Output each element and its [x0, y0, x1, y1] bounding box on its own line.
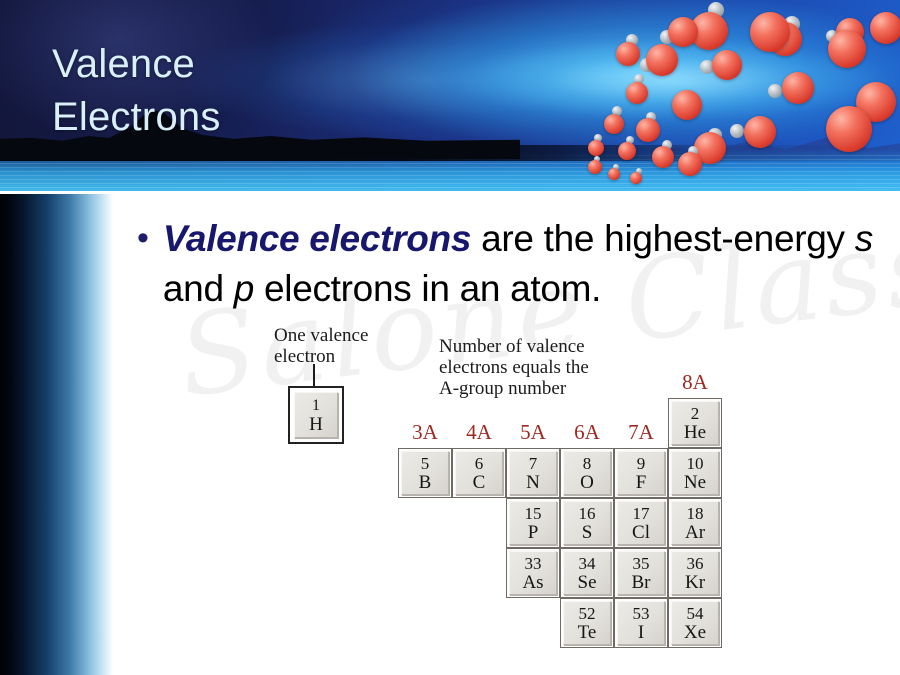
oxygen-atom-icon: [616, 42, 640, 66]
element-tile: 54Xe: [671, 601, 719, 645]
element-tile: 52Te: [563, 601, 611, 645]
element-atomic-number: 33: [525, 554, 542, 573]
oxygen-atom-icon: [826, 106, 872, 152]
element-tile: 35Br: [617, 551, 665, 595]
bullet-text-part-2: and: [163, 268, 234, 309]
element-atomic-number: 17: [633, 504, 650, 523]
element-atomic-number: 5: [421, 454, 430, 473]
element-cell-o[interactable]: 8O: [560, 448, 614, 498]
element-cell-ne[interactable]: 10Ne: [668, 448, 722, 498]
element-symbol: O: [580, 473, 594, 493]
element-symbol: He: [684, 423, 706, 443]
element-atomic-number: 9: [637, 454, 646, 473]
element-symbol: F: [636, 473, 647, 493]
group-label-4a: 4A: [452, 422, 506, 443]
element-tile: 5B: [401, 451, 449, 495]
element-cell-te[interactable]: 52Te: [560, 598, 614, 648]
element-symbol: Cl: [632, 523, 650, 543]
element-cell-se[interactable]: 34Se: [560, 548, 614, 598]
page-title: Valence Electrons: [52, 38, 472, 144]
element-atomic-number: 54: [687, 604, 704, 623]
term-valence-electrons: Valence electrons: [163, 218, 471, 259]
element-atomic-number: 1: [312, 396, 320, 415]
element-tile: 7N: [509, 451, 557, 495]
element-atomic-number: 52: [579, 604, 596, 623]
slide: Valence Electrons Salone Classes • Valen…: [0, 0, 900, 675]
element-symbol: C: [473, 473, 486, 493]
left-accent-strip: [0, 194, 113, 675]
element-symbol: I: [638, 623, 644, 643]
element-cell-he[interactable]: 2He: [668, 398, 722, 448]
list-item: • Valence electrons are the highest-ener…: [137, 214, 877, 314]
element-tile: 18Ar: [671, 501, 719, 545]
element-atomic-number: 10: [687, 454, 704, 473]
oxygen-atom-icon: [630, 172, 642, 184]
element-symbol: Kr: [685, 573, 705, 593]
oxygen-atom-icon: [672, 90, 702, 120]
element-symbol: As: [522, 573, 543, 593]
element-atomic-number: 8: [583, 454, 592, 473]
element-tile: 36Kr: [671, 551, 719, 595]
element-cell-xe[interactable]: 54Xe: [668, 598, 722, 648]
group-label-8a: 8A: [668, 372, 722, 393]
oxygen-atom-icon: [750, 12, 790, 52]
oxygen-atom-icon: [712, 50, 742, 80]
element-symbol: Se: [578, 573, 597, 593]
element-tile: 9F: [617, 451, 665, 495]
element-cell-f[interactable]: 9F: [614, 448, 668, 498]
element-symbol: B: [419, 473, 432, 493]
element-tile: 1 H: [294, 392, 338, 438]
element-atomic-number: 18: [687, 504, 704, 523]
element-tile: 2He: [671, 401, 719, 445]
oxygen-atom-icon: [618, 142, 636, 160]
element-atomic-number: 2: [691, 404, 700, 423]
element-symbol: Ar: [685, 523, 705, 543]
element-tile: 33As: [509, 551, 557, 595]
group-label-6a: 6A: [560, 422, 614, 443]
orbital-label-p: p: [234, 268, 254, 309]
oxygen-atom-icon: [870, 12, 900, 44]
element-symbol: Te: [578, 623, 597, 643]
element-tile: 8O: [563, 451, 611, 495]
element-cell-kr[interactable]: 36Kr: [668, 548, 722, 598]
orbital-label-s: s: [855, 218, 873, 259]
element-tile: 17Cl: [617, 501, 665, 545]
element-tile: 15P: [509, 501, 557, 545]
oxygen-atom-icon: [782, 72, 814, 104]
element-tile: 34Se: [563, 551, 611, 595]
element-atomic-number: 35: [633, 554, 650, 573]
oxygen-atom-icon: [588, 140, 604, 156]
element-cell-c[interactable]: 6C: [452, 448, 506, 498]
element-tile: 6C: [455, 451, 503, 495]
slide-header-banner: Valence Electrons: [0, 0, 900, 191]
hydrogen-atom-icon: [730, 124, 744, 138]
element-cell-s[interactable]: 16S: [560, 498, 614, 548]
element-atomic-number: 53: [633, 604, 650, 623]
element-symbol: S: [582, 523, 593, 543]
element-cell-as[interactable]: 33As: [506, 548, 560, 598]
element-atomic-number: 15: [525, 504, 542, 523]
element-cell-br[interactable]: 35Br: [614, 548, 668, 598]
element-atomic-number: 36: [687, 554, 704, 573]
element-symbol: N: [526, 473, 540, 493]
group-label-7a: 7A: [614, 422, 668, 443]
oxygen-atom-icon: [646, 44, 678, 76]
element-atomic-number: 6: [475, 454, 484, 473]
body-content: • Valence electrons are the highest-ener…: [137, 214, 877, 314]
element-symbol: Ne: [684, 473, 706, 493]
group-label-5a: 5A: [506, 422, 560, 443]
oxygen-atom-icon: [828, 30, 866, 68]
oxygen-atom-icon: [604, 114, 624, 134]
callout-one-valence-electron: One valence electron: [274, 325, 368, 367]
element-tile: 16S: [563, 501, 611, 545]
element-cell-ar[interactable]: 18Ar: [668, 498, 722, 548]
bullet-text: Valence electrons are the highest-energy…: [163, 214, 877, 314]
bullet-marker: •: [137, 214, 149, 262]
element-cell-b[interactable]: 5B: [398, 448, 452, 498]
element-atomic-number: 34: [579, 554, 596, 573]
element-cell-hydrogen[interactable]: 1 H: [288, 386, 344, 444]
bullet-text-part-1: are the highest-energy: [471, 218, 855, 259]
oxygen-atom-icon: [626, 82, 648, 104]
element-cell-i[interactable]: 53I: [614, 598, 668, 648]
element-atomic-number: 7: [529, 454, 538, 473]
element-cell-cl[interactable]: 17Cl: [614, 498, 668, 548]
element-cell-n[interactable]: 7N: [506, 448, 560, 498]
group-label-3a: 3A: [398, 422, 452, 443]
oxygen-atom-icon: [608, 168, 620, 180]
oxygen-atom-icon: [744, 116, 776, 148]
bullet-text-part-3: electrons in an atom.: [254, 268, 601, 309]
element-symbol: Br: [632, 573, 651, 593]
element-symbol: P: [528, 523, 539, 543]
element-symbol: H: [309, 415, 323, 435]
oxygen-atom-icon: [636, 118, 660, 142]
leader-line-hydrogen: [313, 364, 315, 386]
element-symbol: Xe: [684, 623, 706, 643]
oxygen-atom-icon: [588, 160, 602, 174]
element-cell-p[interactable]: 15P: [506, 498, 560, 548]
element-atomic-number: 16: [579, 504, 596, 523]
hydrogen-atom-icon: [768, 84, 782, 98]
element-tile: 53I: [617, 601, 665, 645]
callout-group-number-rule: Number of valence electrons equals the A…: [439, 336, 589, 399]
oxygen-atom-icon: [678, 152, 702, 176]
oxygen-atom-icon: [652, 146, 674, 168]
element-tile: 10Ne: [671, 451, 719, 495]
oxygen-atom-icon: [668, 17, 698, 47]
